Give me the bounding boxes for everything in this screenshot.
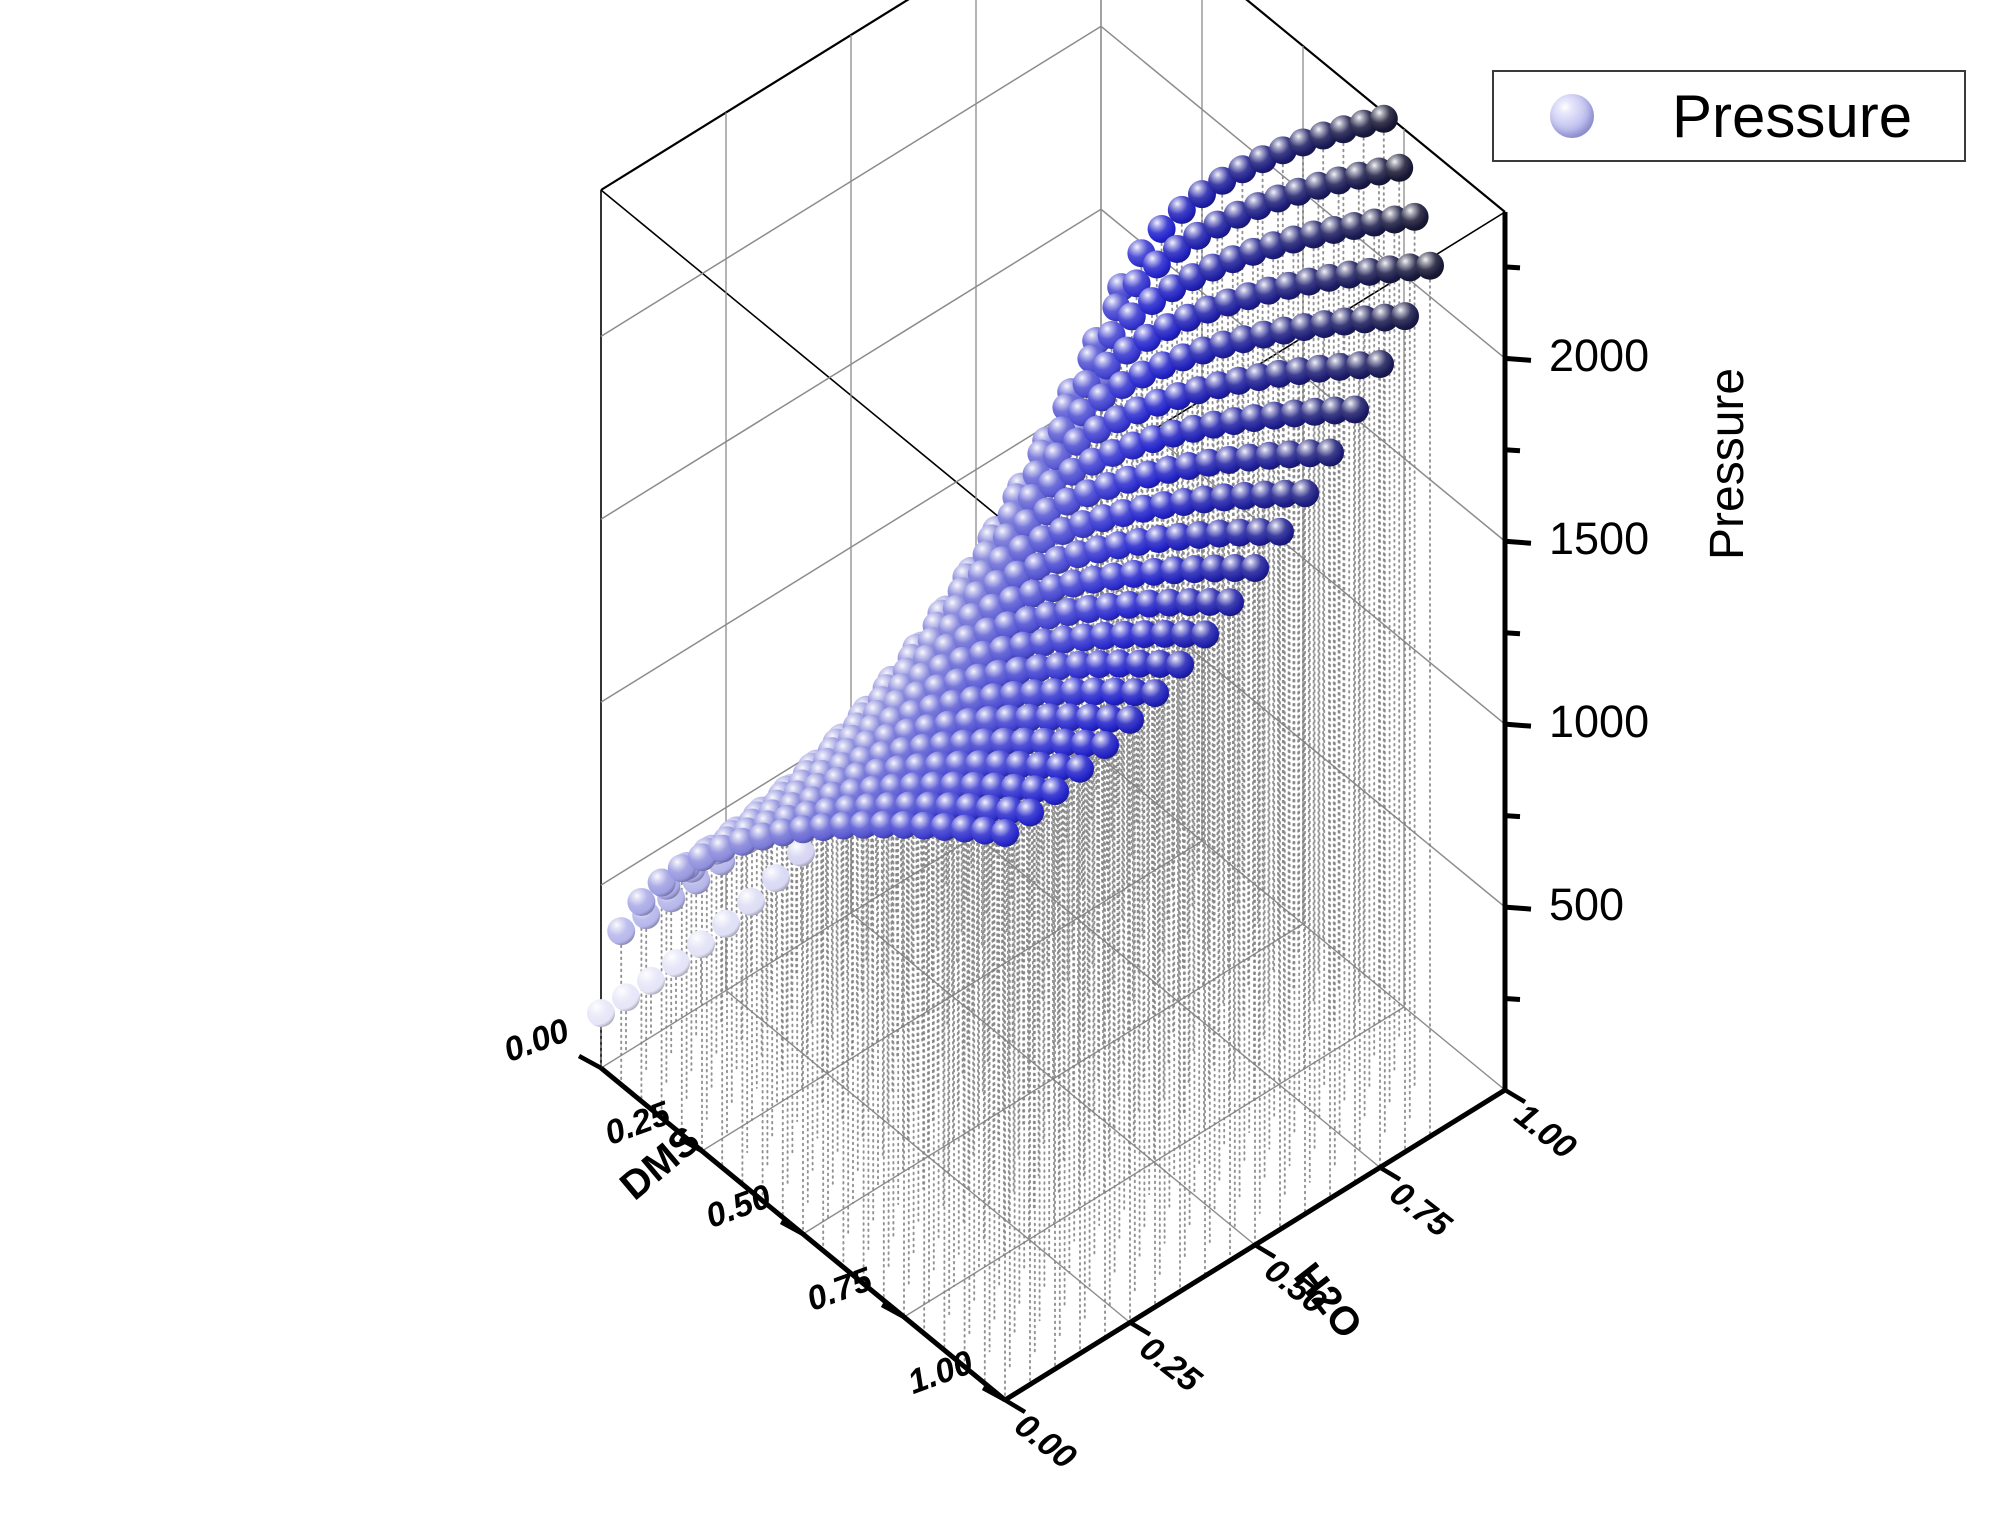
pressure-minor-tick-250 [1505, 999, 1520, 1000]
data-point[interactable] [1391, 302, 1419, 330]
pressure-tick-label-1500: 1500 [1549, 513, 1649, 565]
pressure-minor-tick-1250 [1505, 633, 1520, 634]
pressure-tick-2000 [1505, 358, 1531, 360]
pressure-minor-tick-750 [1505, 816, 1520, 817]
legend-label: Pressure [1672, 82, 1912, 151]
data-point[interactable] [1191, 620, 1219, 648]
pressure-tick-label-500: 500 [1549, 879, 1624, 931]
h2o-tick-0 [1005, 1400, 1025, 1412]
data-point[interactable] [612, 983, 640, 1011]
data-point[interactable] [1401, 203, 1429, 231]
scatter3d-plot [0, 0, 2000, 1532]
data-point[interactable] [1341, 395, 1369, 423]
pressure-tick-label-2000: 2000 [1549, 330, 1649, 382]
data-point[interactable] [1241, 554, 1269, 582]
box-top-front-left-edge [601, 190, 1005, 522]
data-point[interactable] [1370, 105, 1398, 133]
data-point[interactable] [1366, 350, 1394, 378]
data-point[interactable] [1141, 679, 1169, 707]
data-point[interactable] [1216, 588, 1244, 616]
data-point[interactable] [1066, 755, 1094, 783]
data-point[interactable] [1266, 518, 1294, 546]
data-point[interactable] [662, 949, 690, 977]
data-point[interactable] [1041, 777, 1069, 805]
data-point[interactable] [1385, 154, 1413, 182]
data-point[interactable] [637, 967, 665, 995]
data-point[interactable] [587, 999, 615, 1027]
data-point[interactable] [1116, 706, 1144, 734]
data-point[interactable] [1016, 798, 1044, 826]
data-point[interactable] [1291, 479, 1319, 507]
pressure-axis-title: Pressure [1700, 368, 1755, 560]
data-point[interactable] [712, 910, 740, 938]
data-point[interactable] [687, 930, 715, 958]
legend-sphere-icon [1550, 94, 1594, 138]
chart-root: Pressure 200015001000500Pressure0.000.25… [0, 0, 2000, 1532]
data-point[interactable] [762, 864, 790, 892]
pressure-tick-1500 [1505, 541, 1531, 543]
data-point[interactable] [737, 888, 765, 916]
data-point[interactable] [607, 917, 635, 945]
legend[interactable]: Pressure [1492, 70, 1966, 162]
pressure-minor-tick-1750 [1505, 450, 1520, 451]
pressure-minor-tick-2250 [1505, 267, 1520, 268]
data-point[interactable] [1416, 252, 1444, 280]
data-point[interactable] [991, 819, 1019, 847]
dms-tick-0 [579, 1056, 601, 1068]
data-point[interactable] [1166, 651, 1194, 679]
data-point[interactable] [1091, 731, 1119, 759]
h2o-tick-0.25 [1130, 1323, 1150, 1335]
h2o-tick-0.75 [1380, 1168, 1400, 1180]
pressure-tick-1000 [1505, 724, 1531, 726]
pressure-tick-label-1000: 1000 [1549, 696, 1649, 748]
pressure-tick-500 [1505, 907, 1531, 909]
data-point[interactable] [1316, 439, 1344, 467]
h2o-tick-0.5 [1255, 1245, 1275, 1257]
data-point[interactable] [627, 888, 655, 916]
h2o-tick-1 [1505, 1090, 1525, 1102]
